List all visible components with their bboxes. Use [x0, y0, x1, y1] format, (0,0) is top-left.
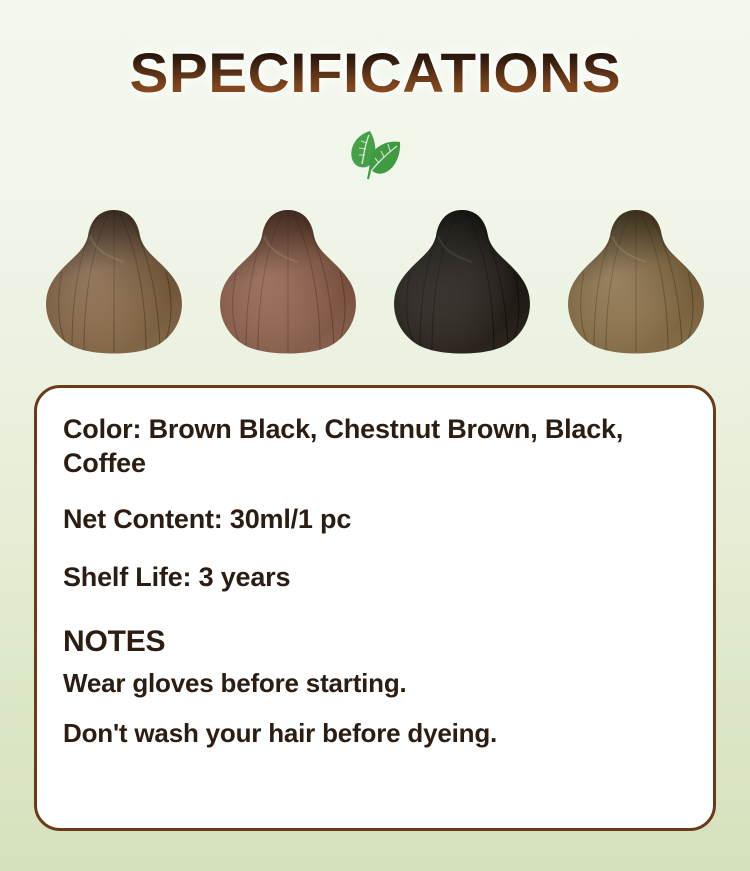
hair-swatch-coffee[interactable]: [560, 206, 712, 358]
hair-swatch-black[interactable]: [386, 206, 538, 358]
spec-color: Color: Brown Black, Chestnut Brown, Blac…: [63, 412, 687, 480]
spec-shelf-life: Shelf Life: 3 years: [63, 560, 687, 594]
note-wear-gloves: Wear gloves before starting.: [63, 666, 687, 700]
leaf-decoration: [0, 126, 750, 186]
hair-swatch-brown-black[interactable]: [38, 206, 190, 358]
specifications-card: Color: Brown Black, Chestnut Brown, Blac…: [34, 385, 716, 831]
page-title-container: SPECIFICATIONS: [0, 44, 750, 106]
hair-swatch-chestnut-brown[interactable]: [212, 206, 364, 358]
spec-net-content: Net Content: 30ml/1 pc: [63, 502, 687, 536]
page-title: SPECIFICATIONS: [129, 44, 621, 102]
hair-swatch-row: [0, 206, 750, 366]
specifications-page: SPECIFICATIONS: [0, 0, 750, 871]
notes-heading: NOTES: [63, 624, 687, 660]
card-content: Color: Brown Black, Chestnut Brown, Blac…: [37, 388, 713, 776]
note-dont-wash: Don't wash your hair before dyeing.: [63, 716, 687, 750]
leaf-icon: [340, 169, 410, 186]
